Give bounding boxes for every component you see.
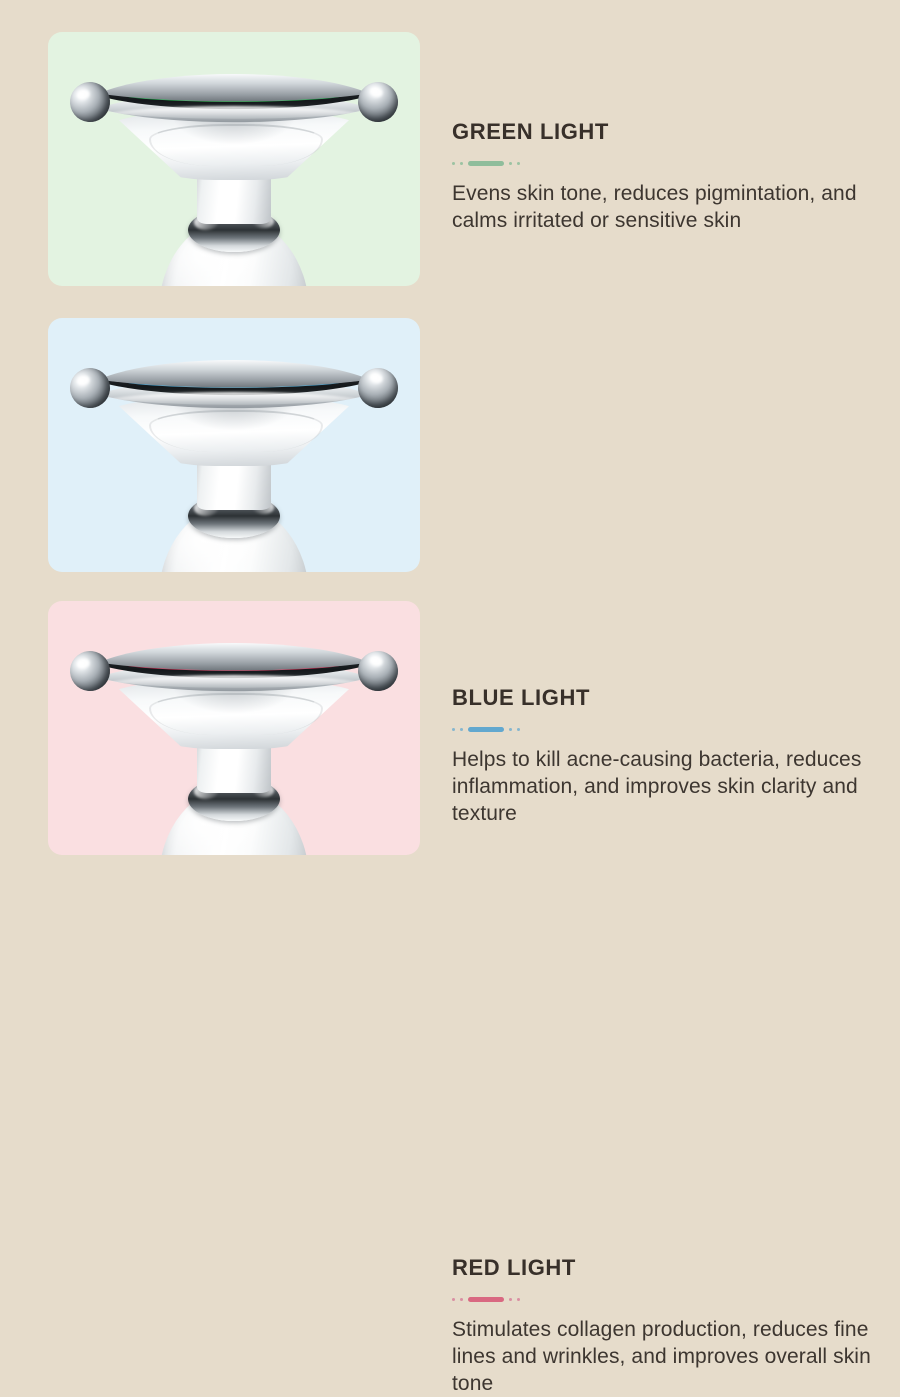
device-ball-tip-right [353,646,402,695]
product-image-card-green [48,32,420,286]
device-head-highlight [102,675,366,697]
heading-green-light: GREEN LIGHT [452,120,872,144]
divider-dash [468,1297,504,1302]
divider-dot [452,162,455,165]
device-ball-tip-left [65,77,114,126]
device-head [78,76,390,152]
light-mode-section-green: GREEN LIGHT Evens skin tone, reduces pig… [0,32,900,286]
divider-dot [460,1298,463,1301]
device-ball-tip-right [353,77,402,126]
led-neck-beauty-device-green [48,32,420,286]
divider-dash [468,161,504,166]
product-image-card-red [48,601,420,855]
heading-red-light: RED LIGHT [452,1256,872,1280]
device-ball-tip-right [353,363,402,412]
light-mode-section-red: RED LIGHT Stimulates collagen production… [0,601,900,855]
device-head [78,362,390,438]
divider-dot [517,1298,520,1301]
device-head [78,645,390,721]
description-red-light: Stimulates collagen production, reduces … [452,1316,872,1397]
light-mode-section-blue: BLUE LIGHT Helps to kill acne-causing ba… [0,318,900,572]
divider-dot [452,1298,455,1301]
divider-dot [509,1298,512,1301]
divider-red [452,1296,872,1302]
divider-dot [509,162,512,165]
description-green-light: Evens skin tone, reduces pigmintation, a… [452,180,872,234]
text-block-red: RED LIGHT Stimulates collagen production… [452,1256,872,1397]
text-block-green: GREEN LIGHT Evens skin tone, reduces pig… [452,120,872,234]
device-ball-tip-left [65,363,114,412]
divider-dot [517,162,520,165]
divider-green [452,160,872,166]
product-image-card-blue [48,318,420,572]
led-neck-beauty-device-blue [48,318,420,572]
divider-dot [460,162,463,165]
device-ball-tip-left [65,646,114,695]
infographic-page: GREEN LIGHT Evens skin tone, reduces pig… [0,0,900,900]
led-neck-beauty-device-red [48,601,420,855]
device-head-highlight [102,106,366,128]
device-head-highlight [102,392,366,414]
